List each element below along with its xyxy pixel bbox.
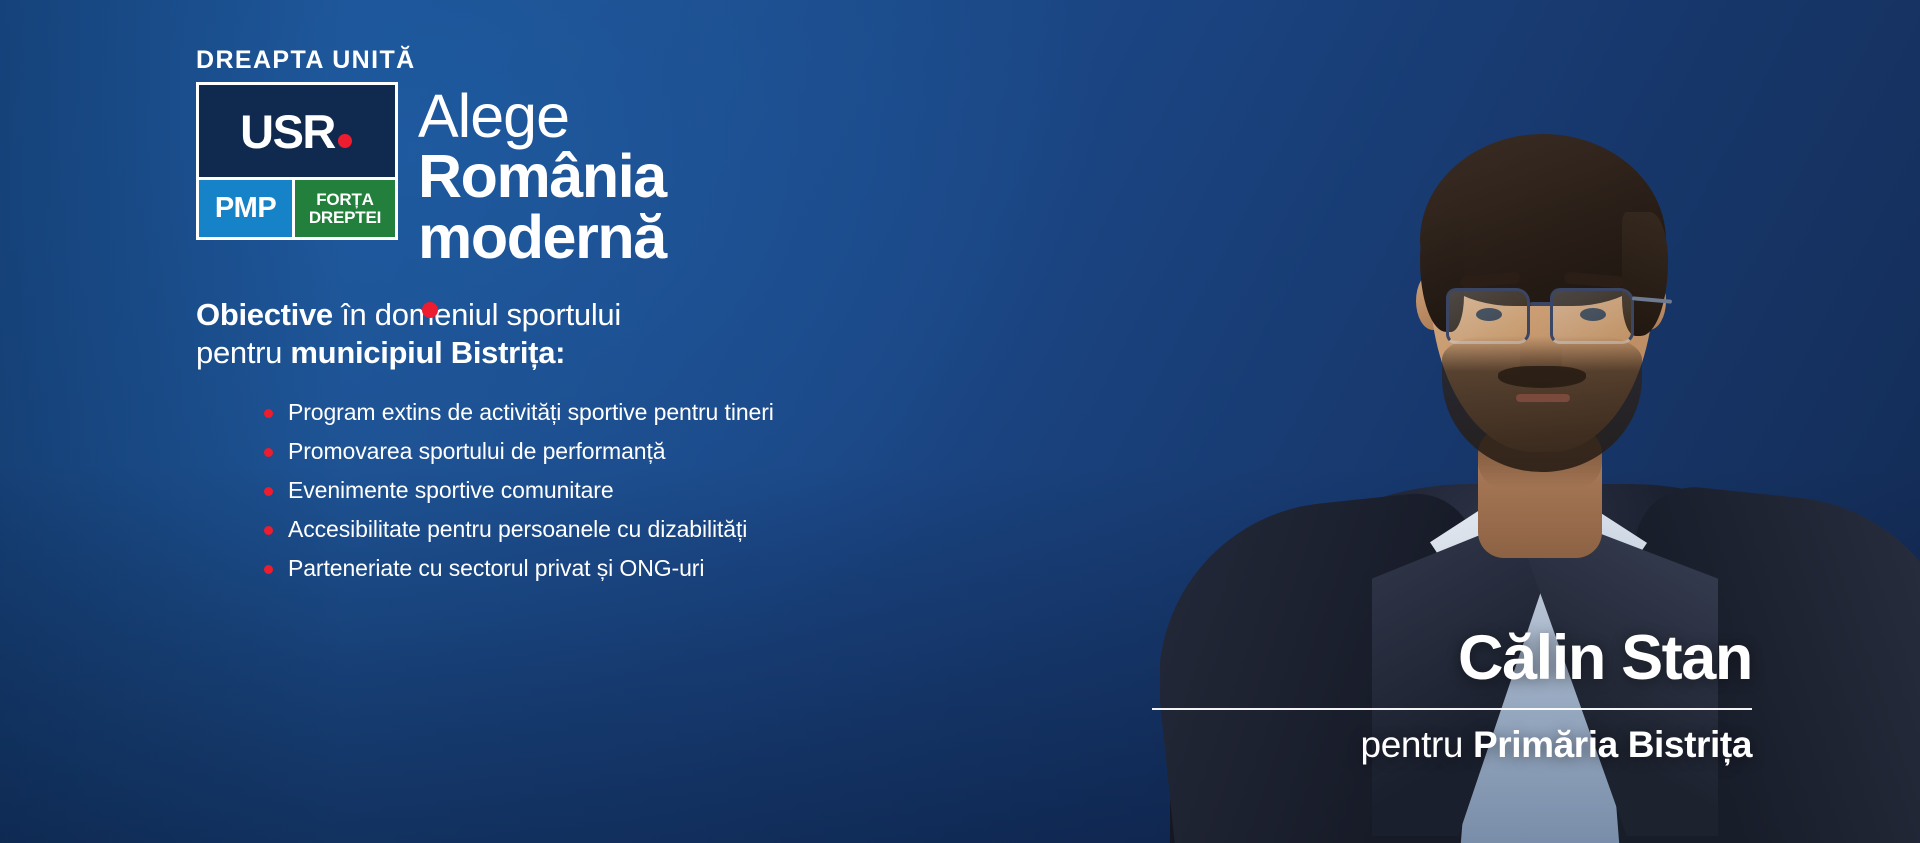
list-item: Evenimente sportive comunitare (264, 479, 1076, 502)
slogan-line-1: Alege (418, 86, 666, 146)
eyeglasses-bridge (1530, 302, 1552, 306)
usr-logo-cell: USR (199, 85, 395, 177)
left-content-column: DREAPTA UNITĂ USR PMP FORȚA DREPTEI (196, 48, 1076, 596)
campaign-banner: DREAPTA UNITĂ USR PMP FORȚA DREPTEI (0, 0, 1920, 843)
coalition-label: DREAPTA UNITĂ (196, 48, 401, 73)
list-item: Parteneriate cu sectorul privat și ONG-u… (264, 557, 1076, 580)
pmp-logo-cell: PMP (199, 180, 292, 237)
usr-text: USR (240, 105, 335, 158)
slogan-line-3-text: modernă (418, 203, 666, 271)
usr-red-dot-icon (338, 134, 352, 148)
coalition-logo: DREAPTA UNITĂ USR PMP FORȚA DREPTEI (196, 48, 401, 240)
office-bold: Primăria Bistrița (1473, 724, 1752, 765)
candidate-name-block: Călin Stan pentru Primăria Bistrița (1152, 627, 1752, 765)
logo-frame: USR PMP FORȚA DREPTEI (196, 82, 398, 240)
forta-dreptei-line2: DREPTEI (309, 209, 381, 226)
candidate-office: pentru Primăria Bistrița (1152, 726, 1752, 765)
objectives-heading-bold-1: Obiective (196, 297, 333, 332)
mouth (1516, 394, 1570, 402)
slogan-line-3: modernă (418, 207, 666, 328)
list-item: Promovarea sportului de performanță (264, 440, 1076, 463)
objectives-list: Program extins de activități sportive pe… (264, 401, 1076, 580)
mustache (1498, 366, 1586, 388)
candidate-name: Călin Stan (1152, 627, 1752, 690)
forta-dreptei-line1: FORȚA (316, 191, 374, 208)
forta-dreptei-logo-cell: FORȚA DREPTEI (295, 180, 395, 237)
eyeglasses-lens-right (1550, 288, 1634, 344)
name-divider (1152, 708, 1752, 710)
slogan-line-2: România (418, 146, 666, 206)
list-item: Program extins de activități sportive pe… (264, 401, 1076, 424)
beard (1442, 336, 1642, 472)
list-item: Accesibilitate pentru persoanele cu diza… (264, 518, 1076, 541)
campaign-slogan: Alege România modernă (418, 86, 666, 328)
slogan-red-dot-icon (422, 302, 438, 318)
objectives-heading-regular-2: pentru (196, 335, 290, 370)
partner-logo-row: PMP FORȚA DREPTEI (199, 180, 395, 237)
office-prefix: pentru (1361, 724, 1473, 765)
objectives-heading-bold-2: municipiul Bistrița: (290, 335, 565, 370)
usr-wordmark: USR (240, 108, 354, 155)
eyeglasses-lens-left (1446, 288, 1530, 344)
pmp-wordmark: PMP (215, 194, 276, 223)
